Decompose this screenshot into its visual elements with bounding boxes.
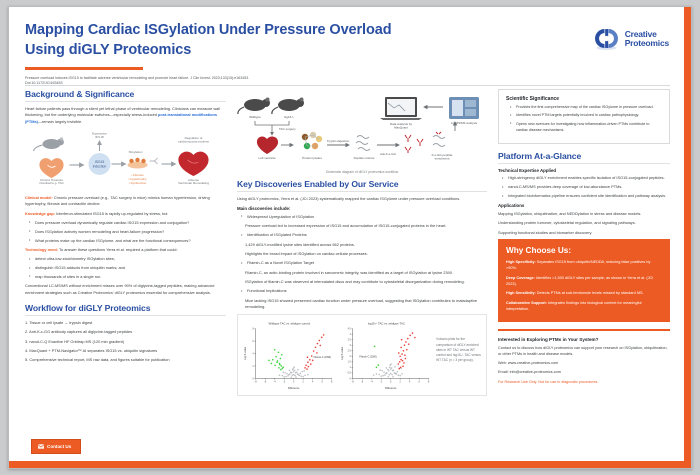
svg-text:0: 0 — [390, 382, 392, 384]
svg-text:enrichment: enrichment — [435, 157, 450, 161]
svg-text:-4: -4 — [274, 382, 277, 384]
header-divider — [25, 85, 670, 86]
column-left: Background & Significance Heart failure … — [25, 89, 226, 367]
column-middle: Wildtype Isg15-/- TAC surgery Left ventr — [237, 89, 487, 396]
svg-text:Protein lysates: Protein lysates — [302, 156, 322, 160]
discoveries-list: Filamin-C as a Novel ISGylation Target — [237, 260, 487, 266]
svg-text:-8: -8 — [255, 382, 258, 384]
svg-text:Isg15-/-: Isg15-/- — [284, 115, 294, 119]
svg-text:Overload e.g. TAC: Overload e.g. TAC — [39, 181, 64, 185]
discoveries-list: Identification of ISGylated Proteins — [237, 232, 487, 238]
contact-us-button-label: Contact Us — [47, 444, 71, 449]
application-1: Understanding protein turnover, cytoskel… — [498, 220, 670, 226]
contact-web[interactable]: Web: www.creative-proteomics.com — [498, 360, 670, 366]
list-item: MaxQuant + PTM-Navigator™ AI separates I… — [25, 348, 226, 354]
application-2: Supporting functional studies and biomar… — [498, 230, 670, 236]
workflow-steps: Tissue or cell lysate → trypsin digest A… — [25, 320, 226, 364]
technical-expertise-heading: Technical Expertise Applied — [498, 168, 670, 173]
contact-heading: Interested in Exploring PTMs in Your Sys… — [498, 337, 670, 342]
svg-text:2: 2 — [399, 382, 401, 384]
svg-text:Wildtype TAC vs. wildtype cont: Wildtype TAC vs. wildtype control — [269, 322, 311, 326]
svg-text:IFN-I/II: IFN-I/II — [95, 135, 104, 139]
list-item: What proteins make up the cardiac ISGylo… — [31, 238, 226, 244]
background-item-1: Knowledge gap: Interferon-stimulated ISG… — [25, 211, 226, 217]
list-item: nanoLC-Q Exactive HF Orbitrap MS (120 mi… — [25, 339, 226, 345]
svg-text:8: 8 — [252, 329, 254, 331]
svg-text:0.5: 0.5 — [347, 373, 351, 375]
list-item: map thousands of sites in a single run. — [31, 274, 226, 280]
background-item-0-label: Clinical model: — [25, 195, 53, 200]
list-item: Widespread Upregulation of ISGylation — [243, 214, 487, 220]
background-item-1-text: Interferon-stimulated ISG15 is rapidly u… — [55, 211, 167, 216]
technology-need-text: To answer these questions Yerra et al. r… — [58, 247, 178, 252]
background-intro-b: —remain largely invisible. — [38, 119, 82, 124]
svg-text:Isg15-/- TAC vs. wildtype TAC: Isg15-/- TAC vs. wildtype TAC — [367, 322, 404, 326]
workflow-figure-caption: Schematic diagram of diGLY proteomics wo… — [237, 170, 487, 174]
svg-text:Ventricular Remodeling: Ventricular Remodeling — [178, 181, 209, 185]
poster-header: Mapping Cardiac ISGylation Under Pressur… — [9, 7, 686, 92]
page-title: Mapping Cardiac ISGylation Under Pressur… — [25, 21, 455, 60]
svg-text:Filamin-C (2390): Filamin-C (2390) — [314, 357, 332, 359]
poster-canvas: Mapping Cardiac ISGylation Under Pressur… — [8, 6, 692, 469]
section-title-workflow: Workflow for diGLY Proteomics — [25, 303, 226, 313]
background-intro: Heart failure patients pass through a si… — [25, 106, 226, 125]
background-technology-need: Technology need: To answer these questio… — [25, 247, 226, 253]
svg-text:-4: -4 — [370, 382, 373, 384]
svg-text:Difference: Difference — [385, 387, 397, 390]
svg-text:4.5: 4.5 — [347, 329, 351, 331]
main-discoveries-subheading: Main discoveries include: — [237, 206, 487, 211]
brand-name: Creative Proteomics — [625, 30, 669, 48]
svg-text:ISGylation: ISGylation — [129, 150, 143, 154]
svg-text:4: 4 — [312, 382, 314, 384]
envelope-icon — [38, 444, 44, 450]
background-item-0-text: Chronic pressure overload (e.g., TAC sur… — [25, 195, 210, 206]
svg-text:4: 4 — [409, 382, 411, 384]
discoveries-list: Widespread Upregulation of ISGylation — [237, 214, 487, 220]
svg-text:6: 6 — [252, 341, 254, 343]
contact-us-button[interactable]: Contact Us — [31, 439, 81, 454]
svg-text:anti-K-ε-GG: anti-K-ε-GG — [380, 152, 397, 156]
list-item: Anti-K-ε-GG antibody captures all diglyc… — [25, 329, 226, 335]
list-item: Filamin-C as a Novel ISGylation Target — [243, 260, 487, 266]
svg-text:TAC surgery: TAC surgery — [279, 127, 296, 131]
list-item: Does pressure overload dynamically regul… — [31, 220, 226, 226]
section-divider — [25, 101, 226, 102]
list-item: Functional Implications — [243, 288, 487, 294]
svg-text:6: 6 — [322, 382, 324, 384]
svg-text:2: 2 — [252, 366, 254, 368]
scientific-significance-heading: Scientific Significance — [506, 96, 662, 102]
list-item: Identification of ISGylated Proteins — [243, 232, 487, 238]
scientific-significance-list: Provides the first comprehensive map of … — [506, 105, 662, 134]
list-item: Identifies novel PTM targets potentially… — [512, 113, 662, 119]
svg-text:Expression: Expression — [92, 131, 107, 135]
svg-text:-log P-value: -log P-value — [341, 347, 344, 361]
svg-text:ISG15: ISG15 — [95, 160, 105, 164]
svg-text:-2: -2 — [380, 382, 383, 384]
discovery-1-para-1: Highlights the broad impact of ISGylatio… — [237, 251, 487, 257]
svg-text:6: 6 — [418, 382, 420, 384]
svg-text:0: 0 — [349, 379, 351, 381]
contact-email[interactable]: Email: info@creative-proteomics.com — [498, 369, 670, 375]
discovery-2-para-0: Filamin-C, an actin-binding protein invo… — [237, 270, 487, 276]
svg-text:Difference: Difference — [288, 387, 300, 390]
technology-need-label: Technology need: — [25, 247, 58, 252]
isgylation-pathway-schematic: Chronic Pressure Overload e.g. TAC ISG15… — [25, 129, 226, 190]
background-item-1-label: Knowledge gap: — [25, 211, 55, 216]
svg-text:8: 8 — [331, 382, 333, 384]
svg-text:1.5: 1.5 — [347, 362, 351, 364]
accent-bar-bottom — [9, 461, 691, 468]
svg-text:Trypsin digestion: Trypsin digestion — [327, 139, 350, 143]
discoveries-list: Functional Implications — [237, 288, 487, 294]
svg-text:1: 1 — [349, 368, 351, 370]
section-title-key-discoveries: Key Discoveries Enabled by Our Service — [237, 179, 487, 189]
background-closing: Conventional LC-MS/MS without enrichment… — [25, 283, 226, 296]
background-item-0: Clinical model: Chronic pressure overloa… — [25, 195, 226, 208]
volcano-plot-isg15ko-tac-vs-wt-tac: Isg15-/- TAC vs. wildtype TAC-8-6-4-2024… — [340, 319, 433, 391]
section-divider — [498, 163, 670, 164]
volcano-plot-wildtype-tac-vs-control: Wildtype TAC vs. wildtype control-8-6-4-… — [243, 319, 336, 391]
brand-logo: Creative Proteomics — [593, 25, 669, 52]
why-bullet-0-label: High Specificity: — [506, 260, 536, 264]
list-item: Collaborative Support: Integrates findin… — [506, 300, 662, 312]
svg-text:2.5: 2.5 — [347, 351, 351, 353]
technology-need-bullets: detect ultra-low-stoichiometry ISGylatio… — [25, 256, 226, 280]
contact-divider — [498, 329, 670, 331]
discovery-2-para-1: ISGylation of filamin-C was observed at … — [237, 279, 487, 285]
column-right: Scientific Significance Provides the fir… — [498, 89, 670, 386]
why-choose-us-box: Why Choose Us: High Specificity: Separat… — [498, 239, 670, 322]
why-bullet-2-text: Detects PTMs at sub-femtomole levels mis… — [536, 291, 644, 295]
list-item: distinguish ISG15 adducts from ubiquitin… — [31, 265, 226, 271]
svg-text:induction: induction — [93, 164, 107, 168]
svg-text:Filamin-C (2390): Filamin-C (2390) — [359, 357, 377, 359]
applications-heading: Applications — [498, 203, 670, 208]
section-title-background: Background & Significance — [25, 89, 226, 99]
cp-logo-icon — [593, 25, 620, 52]
background-questions: Does pressure overload dynamically regul… — [25, 220, 226, 244]
technical-expertise-list: High-stringency diGLY enrichment enables… — [498, 175, 670, 199]
list-item: High-stringency diGLY enrichment enables… — [504, 175, 670, 181]
list-item: Deep Coverage: Identifies >1,500 diGLY s… — [506, 275, 662, 287]
svg-text:3.5: 3.5 — [347, 340, 351, 342]
why-bullet-2-label: High Sensitivity: — [506, 291, 536, 295]
discovery-3-para-0: Mice lacking ISG15 showed preserved card… — [237, 298, 487, 311]
list-item: Provides the first comprehensive map of … — [512, 105, 662, 111]
why-choose-us-heading: Why Choose Us: — [506, 246, 662, 255]
research-use-notice: For Research Use Only. Not for use in di… — [498, 380, 670, 386]
svg-text:8: 8 — [428, 382, 430, 384]
svg-text:4: 4 — [349, 335, 351, 337]
svg-text:0: 0 — [252, 379, 254, 381]
svg-text:-2: -2 — [283, 382, 286, 384]
svg-text:MaxQuant: MaxQuant — [394, 126, 408, 130]
list-item: Integrated bioinformatics pipeline ensur… — [504, 193, 670, 199]
application-0: Mapping ISGylation, ubiquitination, and … — [498, 211, 670, 217]
contact-text: Contact us to discuss how diGLY proteomi… — [498, 345, 670, 357]
svg-text:• Dysfunction: • Dysfunction — [129, 181, 147, 185]
svg-text:2: 2 — [303, 382, 305, 384]
svg-text:-6: -6 — [264, 382, 267, 384]
list-item: Tissue or cell lysate → trypsin digest — [25, 320, 226, 326]
diGLY-proteomics-workflow-schematic: Wildtype Isg15-/- TAC surgery Left ventr — [237, 93, 487, 174]
svg-text:3: 3 — [349, 346, 351, 348]
svg-text:Peptide mixture: Peptide mixture — [354, 156, 375, 160]
key-discoveries-intro: Using diGLY proteomics, Yerra et al. (JC… — [237, 196, 487, 202]
svg-text:cardiomyocyte proteins: cardiomyocyte proteins — [178, 139, 209, 143]
list-item: High Specificity: Separates ISG15 from u… — [506, 259, 662, 271]
title-line-2: Using diGLY Proteomics — [25, 41, 455, 61]
scientific-significance-box: Scientific Significance Provides the fir… — [498, 89, 670, 144]
section-divider — [25, 315, 226, 316]
volcano-plot-panel: Wildtype TAC vs. wildtype control-8-6-4-… — [237, 314, 487, 396]
title-line-1: Mapping Cardiac ISGylation Under Pressur… — [25, 21, 455, 41]
title-underline — [25, 67, 143, 70]
list-item: Does ISGylation actively worsen remodeli… — [31, 229, 226, 235]
brand-line-2: Proteomics — [625, 39, 669, 48]
list-item: nanoLC-MS/MS provides deep coverage of l… — [504, 184, 670, 190]
list-item: detect ultra-low-stoichiometry ISGylatio… — [31, 256, 226, 262]
discovery-0-para-0: Pressure overload led to increased expre… — [237, 223, 487, 229]
svg-text:Wildtype: Wildtype — [249, 115, 261, 119]
volcano-plot-note: Volcano plots for the comparison of diGL… — [436, 319, 481, 363]
why-bullet-1-label: Deep Coverage: — [506, 276, 535, 280]
discovery-1-para-0: 1,429 diGLY-modified lysine sites identi… — [237, 242, 487, 248]
svg-text:2: 2 — [349, 357, 351, 359]
list-item: Opens new avenues for investigating how … — [512, 122, 662, 134]
svg-text:-log P-value: -log P-value — [244, 347, 247, 361]
section-divider — [237, 191, 487, 192]
svg-text:-6: -6 — [361, 382, 364, 384]
section-title-platform: Platform At-a-Glance — [498, 151, 670, 161]
why-choose-us-list: High Specificity: Separates ISG15 from u… — [506, 259, 662, 312]
why-bullet-3-label: Collaborative Support: — [506, 301, 547, 305]
svg-text:-8: -8 — [351, 382, 354, 384]
list-item: Comprehensive technical report, MS raw d… — [25, 357, 226, 363]
list-item: High Sensitivity: Detects PTMs at sub-fe… — [506, 290, 662, 296]
svg-text:Left ventricle: Left ventricle — [258, 156, 275, 160]
svg-text:4: 4 — [252, 354, 254, 356]
svg-text:0: 0 — [293, 382, 295, 384]
